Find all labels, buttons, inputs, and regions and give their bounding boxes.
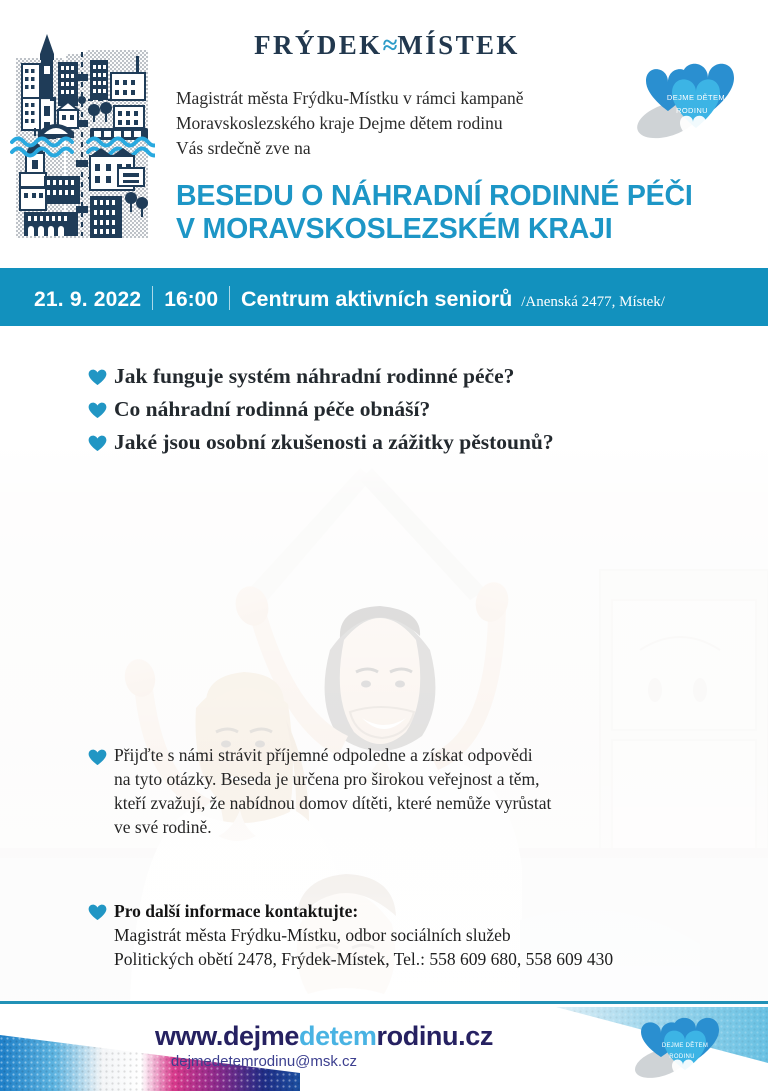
intro-line: Magistrát města Frýdku-Místku v rámci ka… bbox=[176, 86, 626, 111]
event-banner: 21. 9. 2022 16:00 Centrum aktivních seni… bbox=[0, 268, 768, 326]
list-item: Co náhradní rodinná péče obnáší? bbox=[88, 395, 728, 424]
description-line: ve své rodině. bbox=[114, 815, 551, 839]
headline-line: V MORAVSKOSLEZSKÉM KRAJI bbox=[176, 213, 756, 246]
poster-header: FRÝDEK≈MÍSTEK Magistrát města Frýdku-Mís… bbox=[0, 0, 768, 268]
question-text: Co náhradní rodinná péče obnáší? bbox=[114, 395, 430, 424]
description-line: Přijďte s námi strávit příjemné odpoledn… bbox=[114, 743, 551, 767]
heart-bullet-icon bbox=[88, 899, 114, 971]
wave-icon: ≈ bbox=[383, 30, 398, 60]
questions-list: Jak funguje systém náhradní rodinné péče… bbox=[88, 362, 728, 461]
city-skyline-illustration bbox=[10, 28, 155, 263]
event-date: 21. 9. 2022 bbox=[34, 288, 141, 312]
poster: FRÝDEK≈MÍSTEK Magistrát města Frýdku-Mís… bbox=[0, 0, 768, 1091]
description-line: na tyto otázky. Beseda je určena pro šir… bbox=[114, 767, 551, 791]
intro-paragraph: Magistrát města Frýdku-Místku v rámci ka… bbox=[176, 86, 626, 161]
heart-bullet-icon bbox=[88, 395, 114, 419]
question-text: Jaké jsou osobní zkušenosti a zážitky pě… bbox=[114, 428, 554, 457]
event-venue: Centrum aktivních seniorů bbox=[241, 287, 512, 312]
campaign-logo-footer: DEJME DĚTEM RODINU bbox=[628, 1007, 736, 1089]
heart-bullet-icon bbox=[88, 362, 114, 386]
contact-email[interactable]: dejmedetemrodinu@msk.cz bbox=[0, 1053, 648, 1070]
poster-body: Jak funguje systém náhradní rodinné péče… bbox=[0, 326, 768, 1001]
svg-text:DEJME DĚTEM: DEJME DĚTEM bbox=[662, 1041, 708, 1049]
banner-divider bbox=[152, 286, 153, 310]
heart-bullet-icon bbox=[88, 428, 114, 452]
city-wordmark: FRÝDEK≈MÍSTEK bbox=[222, 30, 552, 61]
svg-text:RODINU: RODINU bbox=[669, 1054, 694, 1060]
description-block: Přijďte s námi strávit příjemné odpoledn… bbox=[88, 743, 728, 839]
page-title: BESEDU O NÁHRADNÍ RODINNÉ PÉČI V MORAVSK… bbox=[176, 180, 756, 246]
question-text: Jak funguje systém náhradní rodinné péče… bbox=[114, 362, 514, 391]
intro-line: Vás srdečně zve na bbox=[176, 136, 626, 161]
headline-line: BESEDU O NÁHRADNÍ RODINNÉ PÉČI bbox=[176, 180, 756, 213]
campaign-logo: DEJME DĚTEM RODINU bbox=[630, 48, 754, 156]
event-time: 16:00 bbox=[164, 288, 218, 312]
description-line: kteří zvažují, že nabídnou domov dítěti,… bbox=[114, 791, 551, 815]
poster-footer: www.dejmedetemrodinu.cz dejmedetemrodinu… bbox=[0, 1001, 768, 1091]
wordmark-frydek: FRÝDEK bbox=[254, 30, 382, 60]
banner-divider bbox=[229, 286, 230, 310]
contact-block: Pro další informace kontaktujte: Magistr… bbox=[88, 899, 748, 971]
contact-line: Magistrát města Frýdku-Místku, odbor soc… bbox=[114, 923, 613, 947]
heart-bullet-icon bbox=[88, 743, 114, 839]
wordmark-mistek: MÍSTEK bbox=[397, 30, 519, 60]
list-item: Jaké jsou osobní zkušenosti a zážitky pě… bbox=[88, 428, 728, 457]
list-item: Jak funguje systém náhradní rodinné péče… bbox=[88, 362, 728, 391]
svg-text:RODINU: RODINU bbox=[676, 106, 708, 115]
contact-line: Politických obětí 2478, Frýdek-Místek, T… bbox=[114, 947, 613, 971]
logo-line-1: DEJME DĚTEM bbox=[667, 93, 725, 102]
event-address: /Anenská 2477, Místek/ bbox=[521, 294, 665, 311]
contact-title: Pro další informace kontaktujte: bbox=[114, 899, 613, 923]
intro-line: Moravskoslezského kraje Dejme dětem rodi… bbox=[176, 111, 626, 136]
